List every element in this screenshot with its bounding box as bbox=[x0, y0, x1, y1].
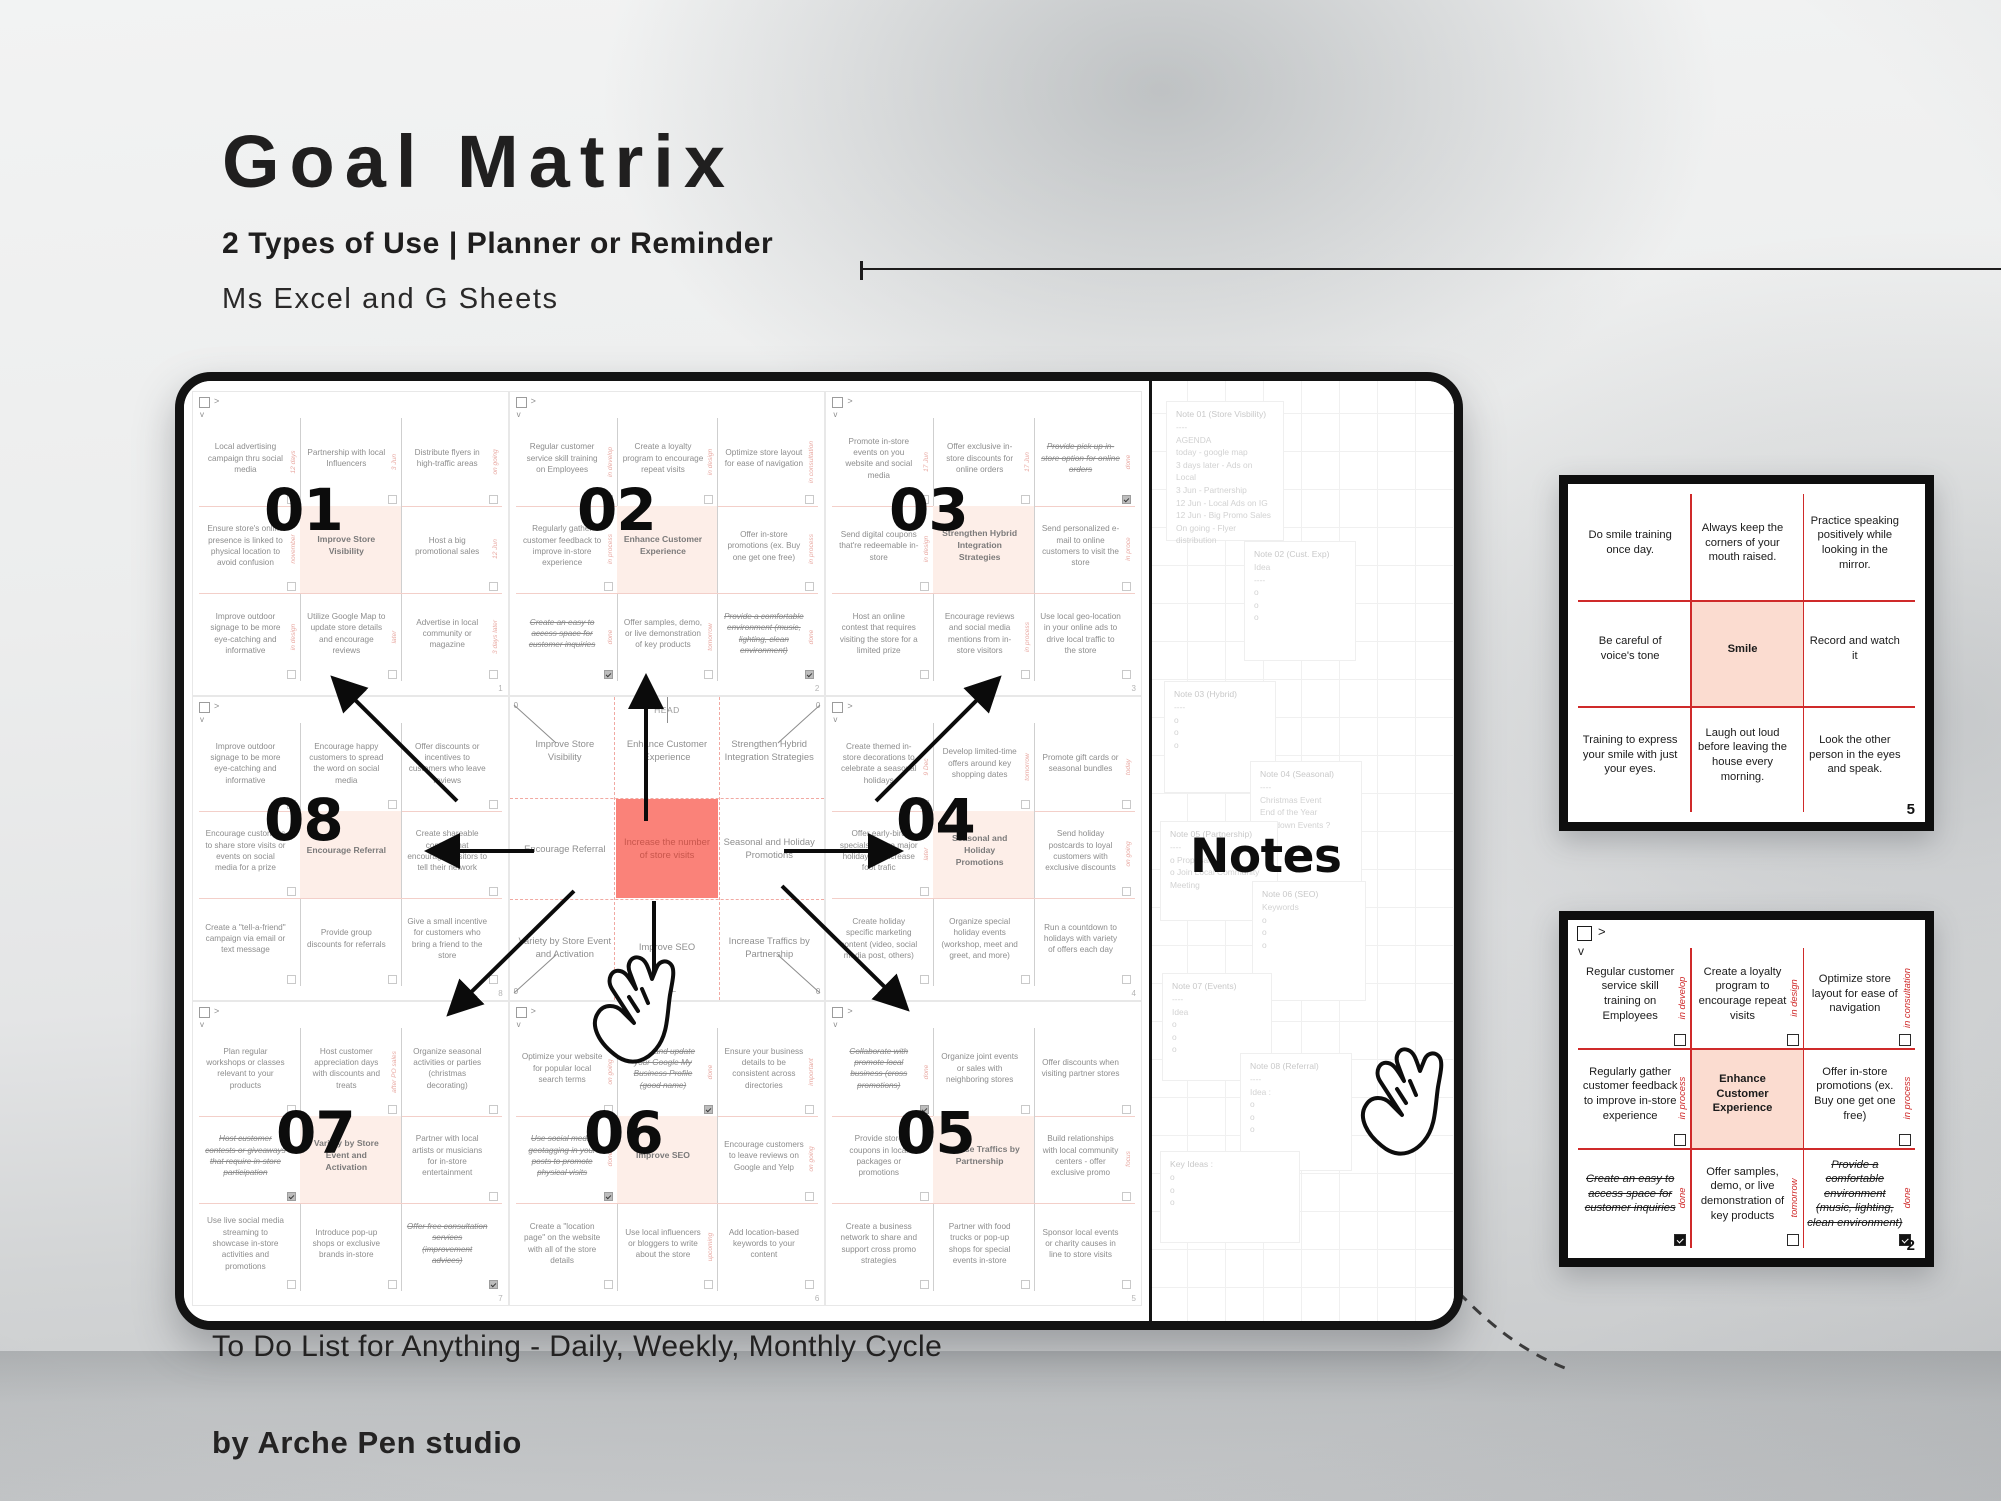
status-tag: in process bbox=[1676, 1077, 1688, 1120]
note-title: Note 06 (SEO) bbox=[1262, 889, 1356, 899]
status-tag: done bbox=[1676, 1188, 1688, 1209]
notes-heading: Notes bbox=[1190, 829, 1341, 884]
inset-center-cell[interactable]: Smile bbox=[1690, 600, 1802, 706]
note-title: Note 03 (Hybrid) bbox=[1174, 689, 1266, 699]
status-tag: done bbox=[1901, 1188, 1913, 1209]
status-tag: in process bbox=[1901, 1077, 1913, 1120]
note-title: Note 04 (Seasonal) bbox=[1260, 769, 1352, 779]
inset-task-cell[interactable]: Be careful of voice's tone bbox=[1578, 600, 1690, 706]
inset-task-cell[interactable]: Laugh out loud before leaving the house … bbox=[1690, 706, 1802, 812]
note-card[interactable]: Note 01 (Store Visbility)---- AGENDA tod… bbox=[1166, 401, 1284, 541]
note-title: Note 08 (Referral) bbox=[1250, 1061, 1342, 1071]
checkbox-icon[interactable] bbox=[1577, 926, 1592, 941]
header-subtitle: 2 Types of Use | Planner or Reminder bbox=[222, 227, 773, 261]
note-title: Note 01 (Store Visbility) bbox=[1176, 409, 1274, 419]
smile-card-grid: Do smile training once day.Always keep t… bbox=[1578, 494, 1915, 812]
inset-task-cell[interactable]: Provide a comfortable environment (music… bbox=[1803, 1148, 1915, 1248]
grid-line-horizontal-1 bbox=[1578, 1148, 1915, 1150]
inset-task-cell[interactable]: Create a loyalty program to encourage re… bbox=[1690, 948, 1802, 1048]
header: Goal Matrix 2 Types of Use | Planner or … bbox=[222, 125, 773, 316]
note-card[interactable]: Key Ideas :o o o bbox=[1160, 1151, 1300, 1243]
grid-line-vertical-0 bbox=[1690, 948, 1692, 1248]
task-checkbox[interactable] bbox=[1899, 1034, 1911, 1046]
status-tag: in develop bbox=[1676, 977, 1688, 1020]
planner-board: >v1Local advertising campaign thru socia… bbox=[175, 372, 1463, 1330]
note-body: o o o bbox=[1170, 1171, 1290, 1209]
note-title: Note 07 (Events) bbox=[1172, 981, 1262, 991]
notes-page: Note 01 (Store Visbility)---- AGENDA tod… bbox=[1152, 381, 1454, 1321]
matrix-page: >v1Local advertising campaign thru socia… bbox=[184, 381, 1149, 1321]
status-tag: tomorrow bbox=[1788, 1178, 1800, 1217]
note-title: Note 02 (Cust. Exp) bbox=[1254, 549, 1346, 559]
inset-task-cell[interactable]: Always keep the corners of your mouth ra… bbox=[1690, 494, 1802, 600]
note-body: Idea ---- o o o bbox=[1254, 561, 1346, 624]
grid-line-horizontal-1 bbox=[1578, 706, 1915, 708]
footer-byline: by Arche Pen studio bbox=[212, 1425, 522, 1461]
inset-page-number: 5 bbox=[1907, 801, 1915, 818]
inset-card-smile[interactable]: Do smile training once day.Always keep t… bbox=[1559, 475, 1934, 831]
task-checkbox[interactable] bbox=[1674, 1234, 1686, 1246]
flow-arrows bbox=[184, 381, 1149, 1311]
page-title: Goal Matrix bbox=[222, 125, 773, 199]
task-checkbox[interactable] bbox=[1674, 1134, 1686, 1146]
grid-line-horizontal-0 bbox=[1578, 600, 1915, 602]
customer-experience-card-grid: Regular customer service skill training … bbox=[1578, 948, 1915, 1248]
task-checkbox[interactable] bbox=[1787, 1034, 1799, 1046]
inset-task-cell[interactable]: Do smile training once day. bbox=[1578, 494, 1690, 600]
inset-task-cell[interactable]: Regularly gather customer feedback to im… bbox=[1578, 1048, 1690, 1148]
inset-task-cell[interactable]: Look the other person in the eyes and sp… bbox=[1803, 706, 1915, 812]
task-checkbox[interactable] bbox=[1787, 1234, 1799, 1246]
inset-task-cell[interactable]: Training to express your smile with just… bbox=[1578, 706, 1690, 812]
grid-line-vertical-0 bbox=[1690, 494, 1692, 812]
note-card[interactable]: Note 02 (Cust. Exp)Idea ---- o o o bbox=[1244, 541, 1356, 661]
grid-line-horizontal-0 bbox=[1578, 1048, 1915, 1050]
inset-task-cell[interactable]: Practice speaking positively while looki… bbox=[1803, 494, 1915, 600]
status-tag: in design bbox=[1788, 979, 1800, 1017]
inset-page-number: 2 bbox=[1907, 1237, 1915, 1254]
note-body: ---- Idea o o o bbox=[1172, 993, 1262, 1056]
pointer-hand-icon bbox=[582, 939, 694, 1079]
header-rule bbox=[860, 268, 2001, 270]
inset-task-cell[interactable]: Optimize store layout for ease of naviga… bbox=[1803, 948, 1915, 1048]
note-title: Key Ideas : bbox=[1170, 1159, 1290, 1169]
note-body: ---- o o o bbox=[1174, 701, 1266, 751]
task-checkbox[interactable] bbox=[1899, 1134, 1911, 1146]
inset-task-cell[interactable]: Record and watch it bbox=[1803, 600, 1915, 706]
inset-task-cell[interactable]: Offer in-store promotions (ex. Buy one g… bbox=[1803, 1048, 1915, 1148]
note-body: Keywords o o o bbox=[1262, 901, 1356, 951]
chevron-right-icon[interactable]: > bbox=[1598, 924, 1606, 939]
task-checkbox[interactable] bbox=[1674, 1034, 1686, 1046]
grid-line-vertical-1 bbox=[1803, 948, 1805, 1248]
note-body: ---- Idea : o o o bbox=[1250, 1073, 1342, 1136]
inset-task-cell[interactable]: Create an easy to access space for custo… bbox=[1578, 1148, 1690, 1248]
inset-center-cell[interactable]: Enhance Customer Experience bbox=[1690, 1048, 1802, 1148]
status-tag: in consultation bbox=[1901, 968, 1913, 1028]
inset-card-customer-experience[interactable]: > v Regular customer service skill train… bbox=[1559, 911, 1934, 1267]
grid-line-vertical-1 bbox=[1803, 494, 1805, 812]
inset-task-cell[interactable]: Offer samples, demo, or live demonstrati… bbox=[1690, 1148, 1802, 1248]
footer-tagline: To Do List for Anything - Daily, Weekly,… bbox=[212, 1330, 942, 1364]
inset-task-cell[interactable]: Regular customer service skill training … bbox=[1578, 948, 1690, 1048]
header-platforms: Ms Excel and G Sheets bbox=[222, 283, 773, 316]
note-body: ---- AGENDA today - google map 3 days la… bbox=[1176, 421, 1274, 547]
pointer-hand-icon-notes bbox=[1350, 1031, 1462, 1171]
